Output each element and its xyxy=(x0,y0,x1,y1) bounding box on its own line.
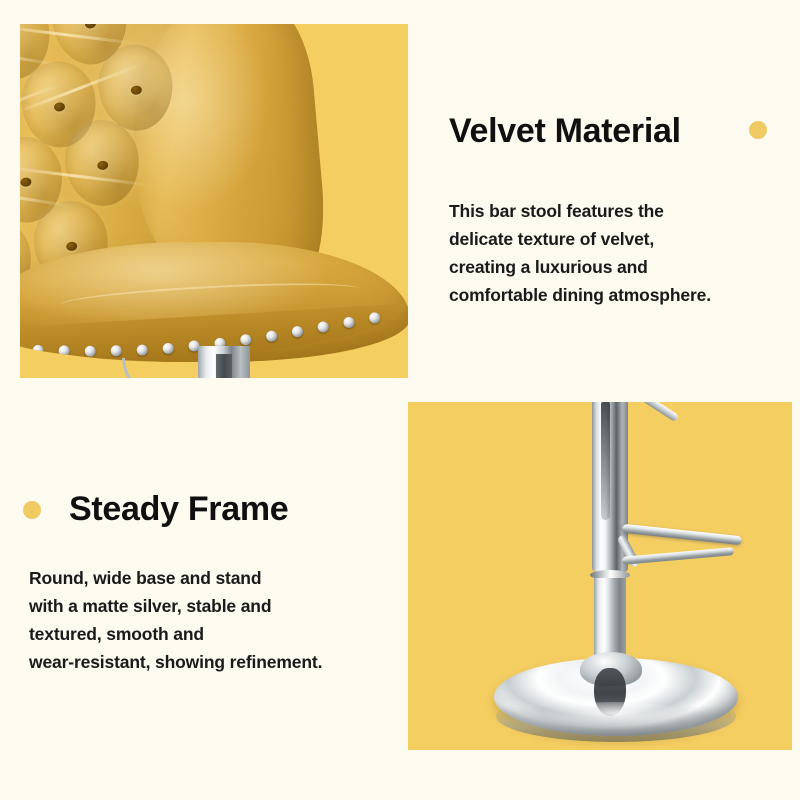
body-line: creating a luxurious and xyxy=(449,253,800,281)
body-line: This bar stool features the xyxy=(449,197,800,225)
product-photo-velvet-material xyxy=(20,24,408,378)
stool-post-shadow xyxy=(216,354,232,378)
footrest-bar-upper xyxy=(622,524,742,545)
footrest-bar-lower xyxy=(622,547,734,565)
feature-heading-velvet: Velvet Material xyxy=(449,112,681,151)
body-line: with a matte silver, stable and xyxy=(29,592,401,620)
base-reflection-highlight xyxy=(540,702,690,730)
feature-body-frame: Round, wide base and stand with a matte … xyxy=(29,564,401,676)
velvet-stool-illustration xyxy=(20,24,408,378)
feature-body-velvet: This bar stool features the delicate tex… xyxy=(449,197,800,309)
height-adjust-lever xyxy=(623,402,679,422)
product-photo-steady-frame xyxy=(408,402,792,750)
bullet-dot-icon-frame xyxy=(23,501,41,519)
body-line: wear-resistant, showing refinement. xyxy=(29,648,401,676)
feature-heading-frame: Steady Frame xyxy=(69,490,288,529)
body-line: Round, wide base and stand xyxy=(29,564,401,592)
body-line: delicate texture of velvet, xyxy=(449,225,800,253)
infographic-canvas: Velvet Material This bar stool features … xyxy=(0,0,800,800)
body-line: textured, smooth and xyxy=(29,620,401,648)
bullet-dot-icon-velvet xyxy=(749,121,767,139)
chrome-base-illustration xyxy=(408,402,792,750)
body-line: comfortable dining atmosphere. xyxy=(449,281,800,309)
